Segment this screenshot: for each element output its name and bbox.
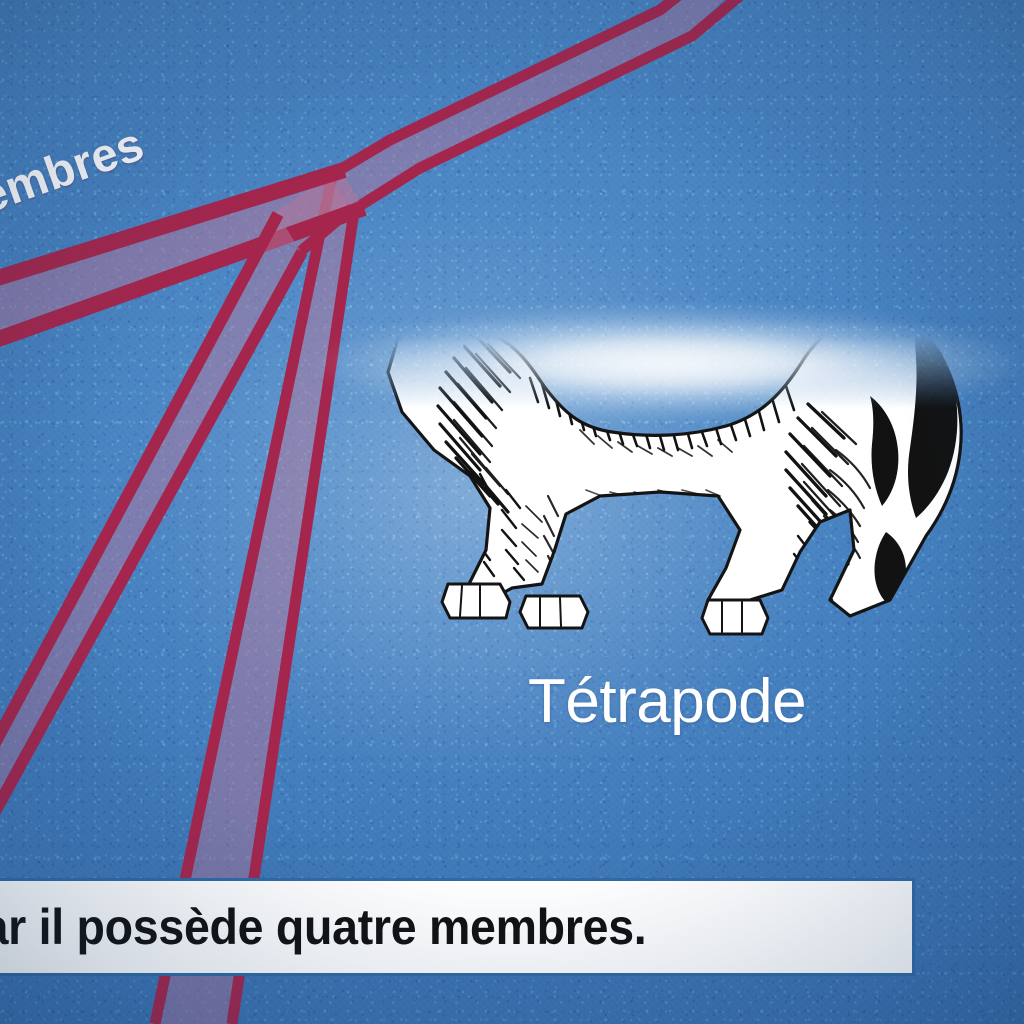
slide-canvas: e membres bbox=[0, 0, 1024, 1024]
vignette-overlay bbox=[0, 0, 1024, 1024]
